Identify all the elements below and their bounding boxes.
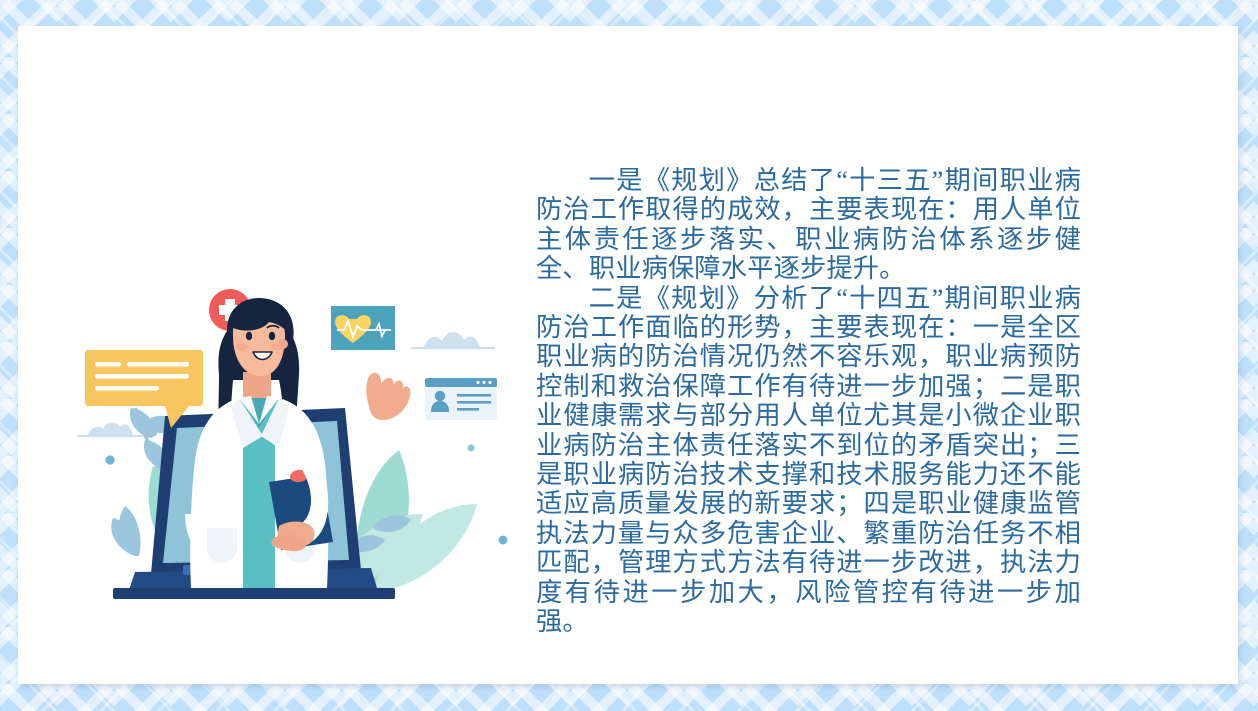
slide-root: 一是《规划》总结了“十三五”期间职业病防治工作取得的成效，主要表现在：用人单位主… bbox=[0, 0, 1258, 711]
paragraph-one: 一是《规划》总结了“十三五”期间职业病防治工作取得的成效，主要表现在：用人单位主… bbox=[536, 166, 1081, 284]
cloud-icon-right bbox=[411, 332, 495, 349]
heartbeat-monitor-card-icon bbox=[331, 306, 395, 350]
doctor-raised-arm bbox=[352, 373, 410, 468]
dot-accent bbox=[499, 536, 508, 545]
slide-content-card: 一是《规划》总结了“十三五”期间职业病防治工作取得的成效，主要表现在：用人单位主… bbox=[18, 26, 1238, 684]
body-text-column: 一是《规划》总结了“十三五”期间职业病防治工作取得的成效，主要表现在：用人单位主… bbox=[536, 166, 1081, 637]
dot-accent bbox=[105, 455, 114, 464]
paragraph-two: 二是《规划》分析了“十四五”期间职业病防治工作面临的形势，主要表现在：一是全区职… bbox=[536, 284, 1081, 637]
online-doctor-illustration bbox=[73, 288, 523, 618]
dot-accent bbox=[467, 444, 474, 451]
patient-profile-card-icon bbox=[425, 378, 497, 420]
